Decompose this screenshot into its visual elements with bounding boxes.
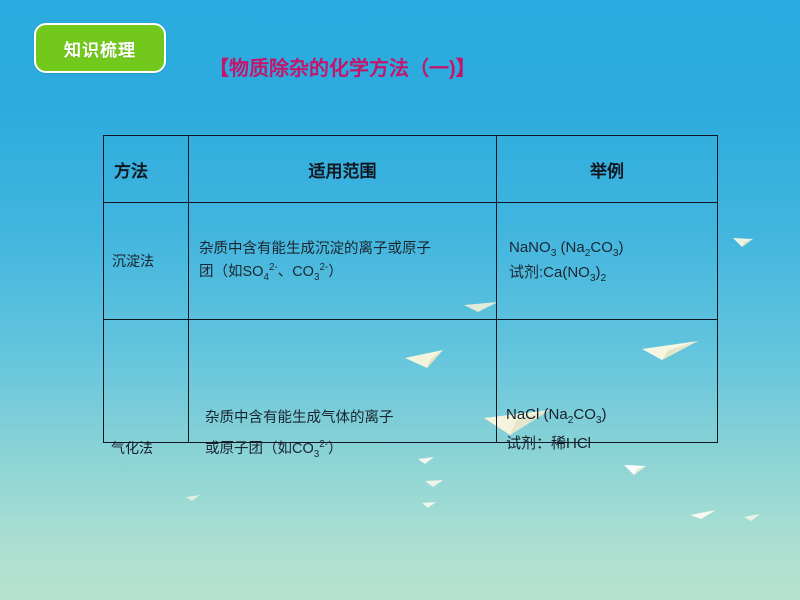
column-header-method: 方法 — [104, 157, 188, 182]
methods-table: 方法 适用范围 举例 沉淀法 杂质中含有能生成沉淀的离子或原子 团（如SO42-… — [103, 135, 718, 443]
table-header-row: 方法 适用范围 举例 — [104, 136, 718, 203]
paper-plane-icon — [422, 501, 436, 509]
example-line-2: 试剂:Ca(NO3)2 — [509, 261, 717, 286]
example-sub: 2 — [601, 273, 607, 284]
paper-plane-icon — [744, 513, 760, 522]
example-frag: (Na — [556, 239, 584, 256]
example-frag: NaNO — [509, 239, 551, 256]
table-header-cell-scope: 适用范围 — [189, 136, 497, 203]
column-header-scope: 适用范围 — [189, 157, 496, 182]
scope-sup: 2- — [319, 262, 328, 273]
table-cell-example — [497, 320, 718, 443]
table-header-cell-method: 方法 — [104, 136, 189, 203]
scope-sup: 2- — [269, 262, 278, 273]
scope-frag: ） — [328, 264, 343, 280]
scope-line-1: 杂质中含有能生成沉淀的离子或原子 — [199, 238, 490, 261]
scope-frag: 、CO — [278, 264, 314, 280]
table-cell-method: 沉淀法 — [104, 203, 189, 320]
paper-plane-icon — [624, 463, 646, 476]
table-cell-example: NaNO3 (Na2CO3) 试剂:Ca(NO3)2 — [497, 203, 718, 320]
page-title: 【物质除杂的化学方法（一)】 — [209, 52, 476, 81]
example-frag: CO — [590, 239, 613, 256]
slide-canvas: 知识梳理 【物质除杂的化学方法（一)】 方法 适用范围 举例 沉淀法 杂质中含有… — [0, 0, 800, 600]
table-cell-method — [104, 320, 189, 443]
paper-plane-icon — [418, 456, 434, 465]
scope-line-2: 团（如SO42-、CO32-） — [199, 261, 490, 284]
paper-plane-icon — [733, 236, 753, 248]
scope-sub: 3 — [314, 272, 319, 283]
method-label-precipitation: 沉淀法 — [104, 251, 188, 271]
section-badge-label: 知识梳理 — [64, 36, 136, 61]
scope-sub: 3 — [314, 449, 319, 460]
table-cell-scope: 杂质中含有能生成沉淀的离子或原子 团（如SO42-、CO32-） — [189, 203, 497, 320]
scope-sub: 4 — [263, 272, 268, 283]
paper-plane-icon — [690, 508, 716, 520]
example-frag: ) — [619, 239, 624, 256]
table-header-cell-example: 举例 — [497, 136, 718, 203]
paper-plane-icon — [425, 478, 443, 488]
table-cell-scope — [189, 320, 497, 443]
example-text-precipitation: NaNO3 (Na2CO3) 试剂:Ca(NO3)2 — [497, 236, 717, 286]
scope-frag: 团（如SO — [199, 264, 263, 280]
paper-plane-icon — [186, 494, 200, 502]
scope-frag: ） — [328, 441, 343, 457]
table-row: 沉淀法 杂质中含有能生成沉淀的离子或原子 团（如SO42-、CO32-） NaN… — [104, 203, 718, 320]
example-line-1: NaNO3 (Na2CO3) — [509, 236, 717, 261]
scope-text-precipitation: 杂质中含有能生成沉淀的离子或原子 团（如SO42-、CO32-） — [189, 238, 496, 285]
example-frag: 试剂:Ca(NO — [509, 264, 590, 281]
column-header-example: 举例 — [497, 157, 717, 182]
scope-frag: 或原子团（如CO — [205, 441, 314, 457]
table-row — [104, 320, 718, 443]
section-badge: 知识梳理 — [34, 23, 166, 73]
